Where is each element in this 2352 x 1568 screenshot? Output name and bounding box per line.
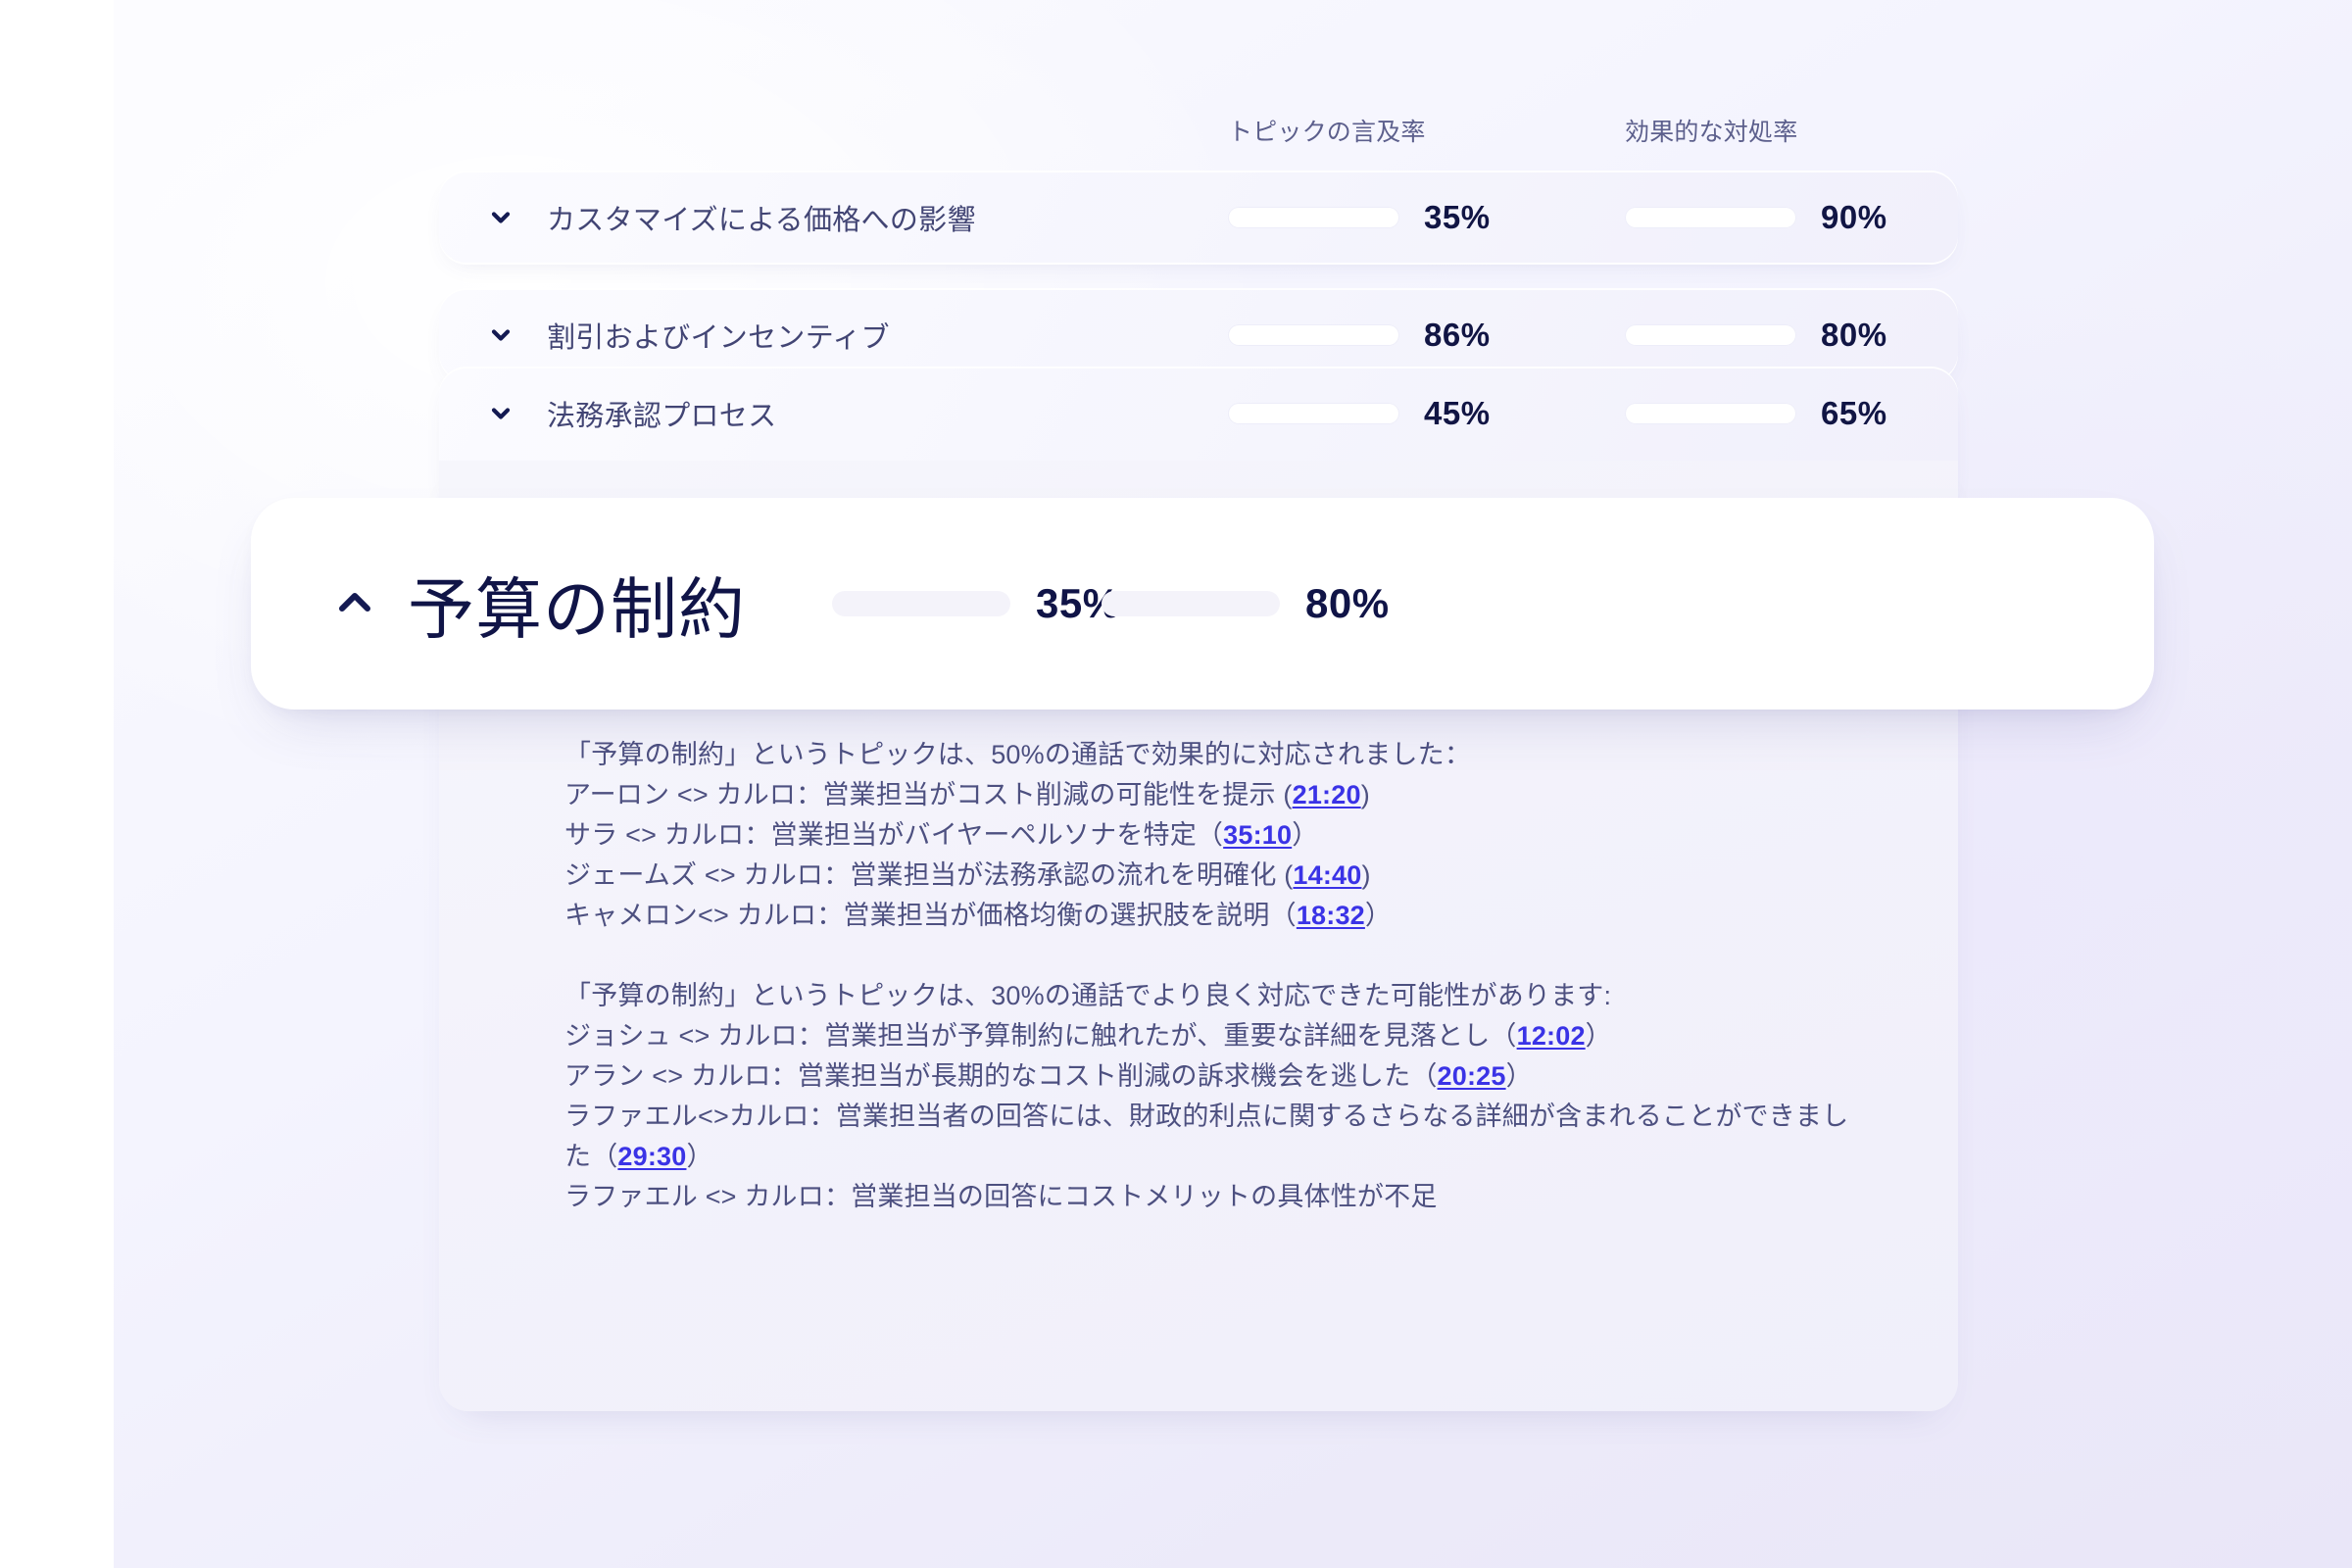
chevron-down-icon[interactable]	[486, 399, 515, 428]
chevron-down-icon[interactable]	[486, 203, 515, 232]
chevron-up-icon[interactable]	[327, 576, 382, 631]
timestamp-link[interactable]: 14:40	[1293, 860, 1361, 890]
metric-handled-rate: 90%	[1625, 199, 1887, 236]
metric-mention-rate: 86%	[1228, 317, 1491, 354]
column-header-handled-rate: 効果的な対処率	[1625, 113, 1797, 148]
column-header-mention-rate: トピックの言及率	[1228, 113, 1426, 148]
metric-mention-rate: 45%	[1228, 395, 1491, 432]
expanded-metric-mention-rate: 35%	[832, 580, 1120, 627]
metric-value-mention: 45%	[1424, 395, 1491, 432]
line-text: キャメロン<> カルロ：営業担当が価格均衡の選択肢を説明（	[564, 901, 1297, 930]
column-headers: トピックの言及率 効果的な対処率	[0, 113, 2352, 152]
metric-value-mention: 35%	[1424, 199, 1491, 236]
improve-heading: 「予算の制約」というトピックは、30%の通話でより良く対応できた可能性があります…	[564, 976, 1868, 1016]
topic-row[interactable]: カスタマイズによる価格への影響 35% 90%	[439, 172, 1958, 263]
expanded-metric-value-handled: 80%	[1305, 580, 1390, 627]
expanded-topic-title: 予算の制約	[408, 556, 746, 653]
line-text: アーロン <> カルロ：営業担当がコスト削減の可能性を提示 (	[564, 780, 1293, 809]
line-text-after: )	[1361, 780, 1370, 809]
handled-heading: 「予算の制約」というトピックは、50%の通話で効果的に対応されました：	[564, 735, 1868, 775]
timestamp-link[interactable]: 29:30	[617, 1142, 686, 1171]
progress-track-mention	[1228, 207, 1399, 228]
timestamp-link[interactable]: 18:32	[1297, 901, 1365, 930]
progress-track-handled	[1625, 324, 1796, 346]
transcript-line: ラファエル<>カルロ：営業担当者の回答には、財政的利点に関するさらなる詳細が含ま…	[564, 1097, 1868, 1177]
line-text: ジェームズ <> カルロ：営業担当が法務承認の流れを明確化 (	[564, 860, 1293, 890]
transcript-line: ラファエル <> カルロ：営業担当の回答にコストメリットの具体性が不足	[564, 1177, 1868, 1217]
progress-track-handled	[1625, 207, 1796, 228]
topic-label: 割引およびインセンティブ	[547, 315, 890, 356]
progress-track-handled	[1625, 403, 1796, 424]
progress-track-handled	[1102, 591, 1280, 616]
topic-label: カスタマイズによる価格への影響	[547, 197, 976, 238]
progress-track-mention	[832, 591, 1010, 616]
expanded-metric-handled-rate: 80%	[1102, 580, 1390, 627]
paragraph-spacer	[564, 936, 1868, 976]
line-text-after: ）	[1292, 820, 1318, 850]
line-text: サラ <> カルロ：営業担当がバイヤーペルソナを特定（	[564, 820, 1223, 850]
metric-value-handled: 65%	[1821, 395, 1887, 432]
transcript-line: ジェームズ <> カルロ：営業担当が法務承認の流れを明確化 (14:40)	[564, 856, 1868, 896]
transcript-line: サラ <> カルロ：営業担当がバイヤーペルソナを特定（35:10）	[564, 815, 1868, 856]
timestamp-link[interactable]: 20:25	[1438, 1061, 1506, 1091]
line-text-after: )	[1361, 860, 1370, 890]
chevron-down-icon[interactable]	[486, 320, 515, 350]
expanded-topic-header[interactable]: 予算の制約 35% 80%	[251, 498, 2154, 710]
metric-mention-rate: 35%	[1228, 199, 1491, 236]
timestamp-link[interactable]: 35:10	[1223, 820, 1292, 850]
page-root: トピックの言及率 効果的な対処率 カスタマイズによる価格への影響 35% 90%	[0, 0, 2352, 1568]
progress-track-mention	[1228, 403, 1399, 424]
line-text: ラファエル <> カルロ：営業担当の回答にコストメリットの具体性が不足	[564, 1182, 1438, 1211]
transcript-line: キャメロン<> カルロ：営業担当が価格均衡の選択肢を説明（18:32）	[564, 896, 1868, 936]
metric-handled-rate: 80%	[1625, 317, 1887, 354]
timestamp-link[interactable]: 12:02	[1517, 1021, 1586, 1051]
progress-track-mention	[1228, 324, 1399, 346]
transcript-line: ジョシュ <> カルロ：営業担当が予算制約に触れたが、重要な詳細を見落とし（12…	[564, 1016, 1868, 1056]
metric-value-handled: 90%	[1821, 199, 1887, 236]
line-text: ラファエル<>カルロ：営業担当者の回答には、財政的利点に関するさらなる詳細が含ま…	[564, 1102, 1848, 1171]
metric-value-mention: 86%	[1424, 317, 1491, 354]
metric-handled-rate: 65%	[1625, 395, 1887, 432]
line-text: ジョシュ <> カルロ：営業担当が予算制約に触れたが、重要な詳細を見落とし（	[564, 1021, 1517, 1051]
line-text-after: ）	[1506, 1061, 1533, 1091]
metric-value-handled: 80%	[1821, 317, 1887, 354]
transcript-line: アラン <> カルロ：営業担当が長期的なコスト削減の訴求機会を逃した（20:25…	[564, 1056, 1868, 1097]
line-text-after: ）	[686, 1142, 712, 1171]
line-text: アラン <> カルロ：営業担当が長期的なコスト削減の訴求機会を逃した（	[564, 1061, 1438, 1091]
line-text-after: ）	[1586, 1021, 1612, 1051]
timestamp-link[interactable]: 21:20	[1293, 780, 1361, 809]
line-text-after: ）	[1365, 901, 1392, 930]
topic-label: 法務承認プロセス	[547, 393, 776, 434]
topic-row[interactable]: 割引およびインセンティブ 86% 80%	[439, 290, 1958, 380]
transcript-body: 「予算の制約」というトピックは、50%の通話で効果的に対応されました： アーロン…	[564, 735, 1868, 1217]
transcript-line: アーロン <> カルロ：営業担当がコスト削減の可能性を提示 (21:20)	[564, 775, 1868, 815]
